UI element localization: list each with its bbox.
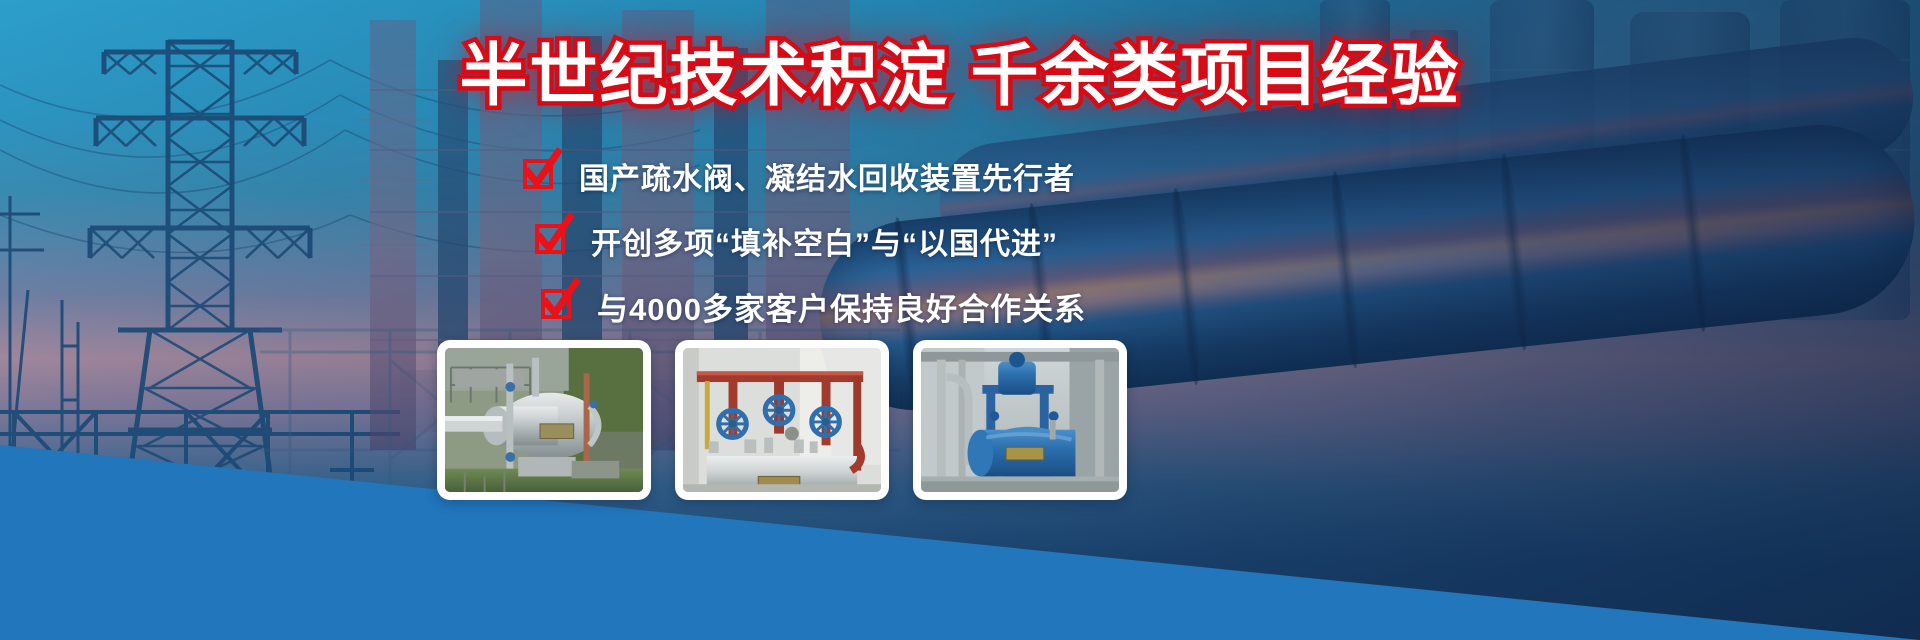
product-photo-card-list — [437, 340, 1127, 500]
checkbox-check-icon — [523, 159, 557, 193]
page-title: 半世纪技术积淀 千余类项目经验 — [460, 36, 1461, 116]
photo-thumbnail — [445, 348, 643, 492]
list-item: 开创多项“填补空白”与“以国代进” — [535, 215, 1283, 267]
photo-thumbnail — [921, 348, 1119, 492]
list-item-label: 开创多项“填补空白”与“以国代进” — [591, 219, 1058, 263]
list-item: 与4000多家客户保持良好合作关系 — [541, 280, 1283, 332]
promo-banner: 半世纪技术积淀 千余类项目经验 国产疏水阀、凝结水回收装置先行者 开创多项“填补… — [0, 0, 1920, 640]
list-item: 国产疏水阀、凝结水回收装置先行者 — [523, 150, 1283, 202]
photo-thumbnail — [683, 348, 881, 492]
photo-card-condensate-vessel[interactable] — [437, 340, 651, 500]
feature-bullet-list: 国产疏水阀、凝结水回收装置先行者 开创多项“填补空白”与“以国代进” 与4000… — [523, 150, 1283, 345]
banner-title-container: 半世纪技术积淀 千余类项目经验 — [0, 36, 1920, 116]
photo-card-red-piping-valves[interactable] — [675, 340, 889, 500]
photo-card-blue-tank-plant[interactable] — [913, 340, 1127, 500]
checkbox-check-icon — [541, 289, 575, 323]
list-item-label: 与4000多家客户保持良好合作关系 — [597, 284, 1086, 329]
checkbox-check-icon — [535, 224, 569, 258]
list-item-label: 国产疏水阀、凝结水回收装置先行者 — [579, 154, 1075, 198]
